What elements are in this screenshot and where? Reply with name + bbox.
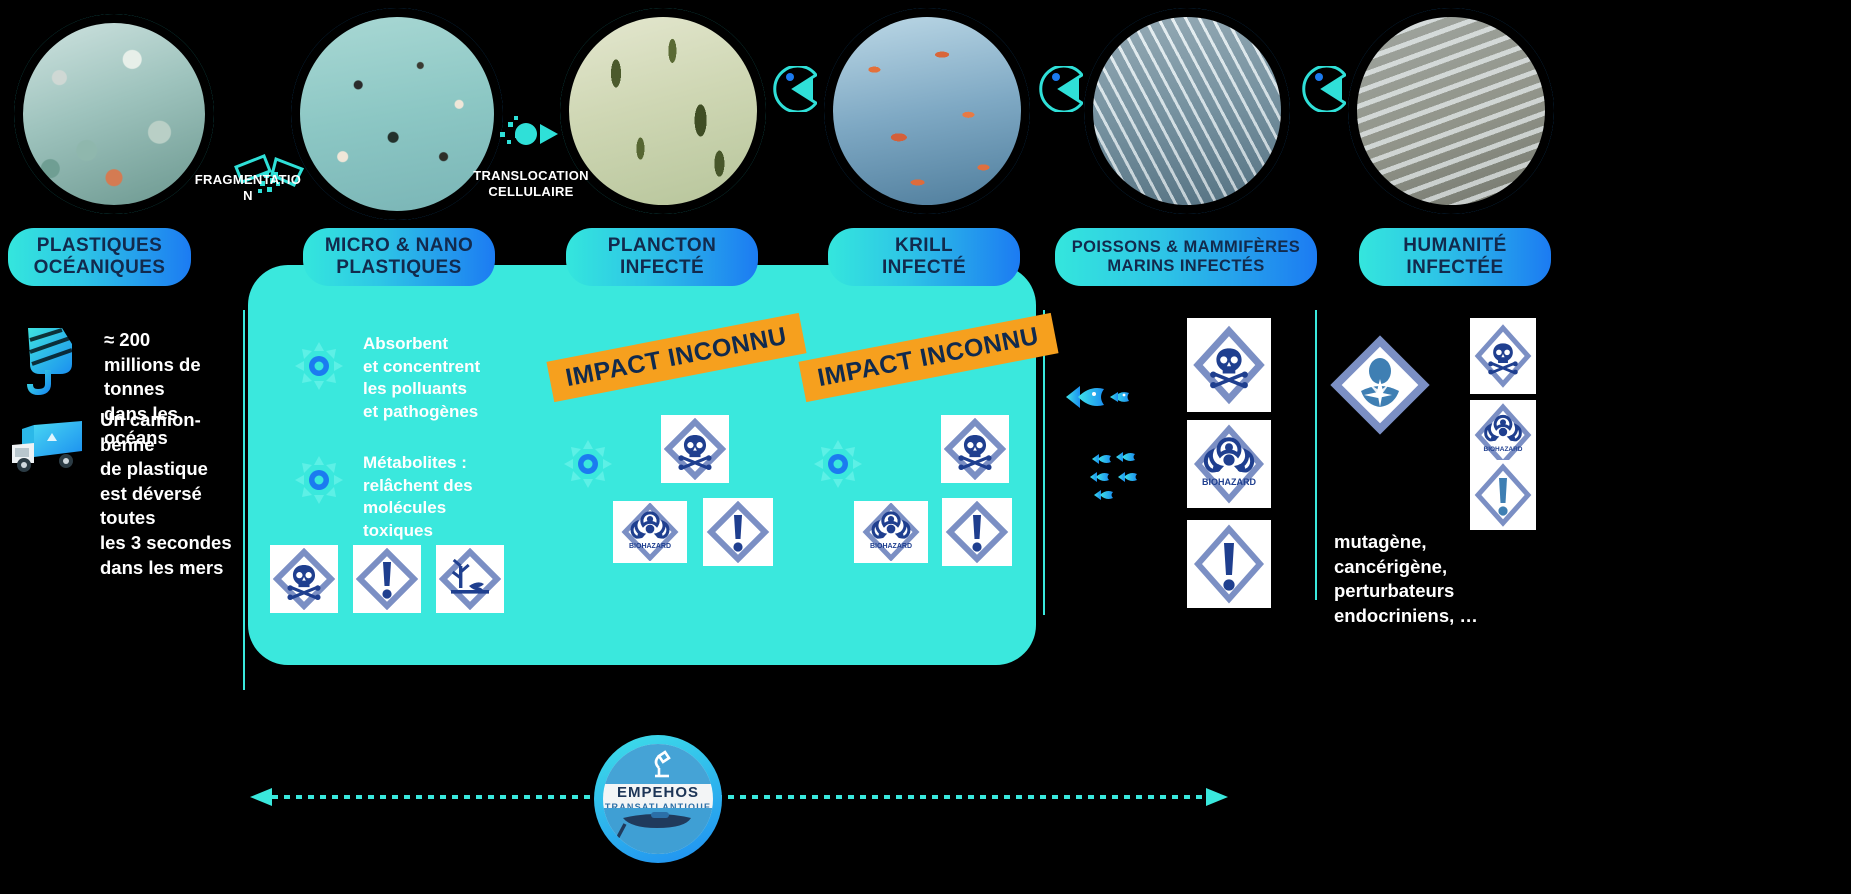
exclamation-mark-pictogram [1470, 460, 1536, 530]
stage-label-plastiques-oceaniques[interactable]: PLASTIQUES OCÉANIQUES [8, 228, 191, 286]
biohazard-pictogram: BIOHAZARD [1187, 420, 1271, 508]
biohazard-caption: BIOHAZARD [629, 543, 671, 550]
process-label-line1: FRAGMENTATIO [188, 172, 308, 188]
stage-label-poissons-mammiferes[interactable]: POISSONS & MAMMIFÈRES MARINS INFECTÉS [1055, 228, 1317, 286]
biohazard-caption: BIOHAZARD [870, 543, 912, 550]
stage-label-line1: HUMANITÉ [1403, 235, 1506, 257]
pacman-eat-icon [771, 66, 817, 112]
big-fish-eating-small-fish-icon [1064, 382, 1148, 417]
bullet-line: molécules [363, 497, 543, 520]
stat-line: benne [100, 433, 260, 458]
logo-inner: EMPEHOS TRANSATLANTIQUE [603, 744, 713, 854]
exclamation-mark-pictogram [703, 498, 773, 566]
stat-line: dans les mers [100, 556, 260, 581]
column-separator [1315, 310, 1317, 600]
stat-text-truck-dumping: Un camion- benne de plastique est dévers… [100, 408, 260, 580]
effect-line: mutagène, [1334, 530, 1564, 555]
skull-crossbones-pictogram [270, 545, 338, 613]
bullet-line: Métabolites : [363, 452, 543, 475]
microscope-icon [643, 748, 677, 782]
particle-arrow-icon [500, 112, 562, 163]
photo-ring [14, 14, 214, 214]
stage-label-line2: INFECTÉ [608, 257, 716, 279]
stage-label-line1: PLANCTON [608, 235, 716, 257]
fish-school-icon [1090, 450, 1160, 507]
stat-line: les 3 secondes [100, 531, 260, 556]
exclamation-mark-pictogram [942, 498, 1012, 566]
biohazard-pictogram: BIOHAZARD [854, 501, 928, 563]
micro-bullet-text-metabolites: Métabolites : relâchent des molécules to… [363, 452, 543, 542]
bullet-line: les polluants [363, 378, 543, 401]
skull-crossbones-pictogram [661, 415, 729, 483]
process-label-line1: TRANSLOCATION [470, 168, 592, 184]
ring-burst-icon [814, 440, 860, 486]
stat-line: toutes [100, 506, 260, 531]
stage-label-line1: POISSONS & MAMMIFÈRES [1072, 238, 1300, 257]
logo-title: EMPEHOS [603, 784, 713, 801]
stage-label-line2: PLASTIQUES [325, 257, 473, 279]
effect-line: cancérigène, [1334, 555, 1564, 580]
garbage-truck-icon [8, 415, 90, 482]
stat-line: Un camion- [100, 408, 260, 433]
bullet-line: et pathogènes [363, 401, 543, 424]
skull-crossbones-pictogram [941, 415, 1009, 483]
photo-ring [1084, 8, 1290, 214]
stat-line: est déversé [100, 482, 260, 507]
skull-crossbones-pictogram [1187, 318, 1271, 412]
stage-label-krill-infecte[interactable]: KRILL INFECTÉ [828, 228, 1020, 286]
pacman-eat-icon [1037, 66, 1083, 112]
pacman-eat-icon [1300, 66, 1346, 112]
stat-line: millions de [104, 353, 254, 378]
bidirectional-scope-arrow [250, 786, 1250, 808]
stage-photo-poissons-mammiferes [1084, 8, 1290, 214]
biohazard-caption: BIOHAZARD [1202, 477, 1256, 487]
stage-photo-humanite-infectee [1348, 8, 1554, 214]
stage-label-line2: OCÉANIQUES [34, 257, 166, 279]
effect-line: endocriniens, … [1334, 604, 1564, 629]
stat-line: ≈ 200 [104, 328, 254, 353]
stage-label-line1: PLASTIQUES [34, 235, 166, 257]
stat-line: tonnes [104, 377, 254, 402]
skull-crossbones-pictogram [1470, 318, 1536, 394]
ring-burst-icon [295, 342, 341, 388]
stage-label-line2: MARINS INFECTÉS [1072, 257, 1300, 276]
stage-label-micro-nano-plastiques[interactable]: MICRO & NANO PLASTIQUES [303, 228, 495, 286]
health-hazard-pictogram [1330, 335, 1430, 440]
stage-photo-plastiques-oceaniques [14, 14, 214, 214]
bullet-line: Absorbent [363, 333, 543, 356]
biohazard-caption: BIOHAZARD [1484, 446, 1523, 453]
stage-label-humanite-infectee[interactable]: HUMANITÉ INFECTÉE [1359, 228, 1551, 286]
rowing-boat-icon [617, 806, 701, 840]
micro-bullet-text-absorbent: Absorbent et concentrent les polluants e… [363, 333, 543, 423]
ring-burst-icon [564, 440, 610, 486]
bullet-line: toxiques [363, 520, 543, 543]
biohazard-pictogram: BIOHAZARD [613, 501, 687, 563]
stat-line: de plastique [100, 457, 260, 482]
process-label-fragmentation: FRAGMENTATIO N [188, 172, 308, 203]
exclamation-mark-pictogram [353, 545, 421, 613]
stage-photo-krill-infecte [824, 8, 1030, 214]
plastic-bag-icon [18, 322, 78, 401]
stage-label-line1: MICRO & NANO [325, 235, 473, 257]
stage-label-line2: INFECTÉ [882, 257, 966, 279]
stage-label-plancton-infecte[interactable]: PLANCTON INFECTÉ [566, 228, 758, 286]
stage-label-line1: KRILL [882, 235, 966, 257]
bullet-line: et concentrent [363, 356, 543, 379]
stage-label-line2: INFECTÉE [1403, 257, 1506, 279]
process-label-line2: CELLULAIRE [470, 184, 592, 200]
bullet-line: relâchent des [363, 475, 543, 498]
exclamation-mark-pictogram [1187, 520, 1271, 608]
photo-ring [1348, 8, 1554, 214]
environment-hazard-pictogram [436, 545, 504, 613]
process-label-line2: N [188, 188, 308, 204]
humanite-effects-text: mutagène, cancérigène, perturbateurs end… [1334, 530, 1564, 628]
photo-ring [824, 8, 1030, 214]
empehos-logo[interactable]: EMPEHOS TRANSATLANTIQUE [594, 735, 722, 863]
effect-line: perturbateurs [1334, 579, 1564, 604]
process-label-translocation: TRANSLOCATION CELLULAIRE [470, 168, 592, 199]
ring-burst-icon [295, 456, 341, 502]
